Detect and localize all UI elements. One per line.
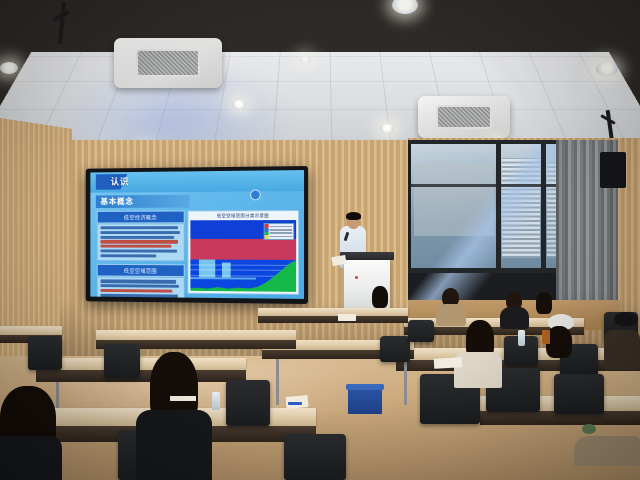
slide-block-body <box>97 223 185 262</box>
podium-equipment <box>340 252 394 260</box>
slide-section-title: 基本概念 <box>96 195 190 208</box>
remote-control <box>170 396 196 401</box>
slide-block-body <box>97 277 185 299</box>
chair[interactable] <box>284 434 346 480</box>
slide-block-heading: 低空空域范围 <box>97 264 185 277</box>
ceiling-downlight <box>392 0 418 14</box>
student-body-tan-jacket <box>436 304 466 326</box>
wall-speaker <box>600 152 626 188</box>
chart-legend <box>264 223 294 240</box>
student-head <box>536 292 552 314</box>
student-body <box>136 410 212 480</box>
ac-cassette-unit-left <box>114 38 222 88</box>
chair[interactable] <box>554 374 604 414</box>
projection-screen[interactable]: 认识 基本概念 低空经济概念 低空空域范围 <box>86 166 308 304</box>
ceiling-downlight <box>300 56 310 63</box>
desk-front-panel <box>36 370 246 382</box>
window-mullion <box>496 140 501 272</box>
desk-far-left <box>0 326 62 335</box>
chair[interactable] <box>226 380 270 426</box>
chart-title: 低空空域范围分类示意图 <box>190 213 296 219</box>
ceiling-mount-bracket-left <box>58 2 66 44</box>
papers-on-desk <box>338 314 356 321</box>
desk-leg <box>276 359 279 405</box>
slide-header-title: 认识 <box>111 175 130 188</box>
ac-grille <box>136 49 201 77</box>
student-black-cap <box>614 312 638 326</box>
slide-chart: 低空空域范围分类示意图 <box>188 210 300 295</box>
student-body <box>500 307 529 329</box>
chart-plot-area <box>190 220 296 292</box>
desk-row-2-left <box>36 358 246 370</box>
papers-on-desk <box>434 357 462 368</box>
ceiling-downlight <box>380 124 394 133</box>
pen-on-desk <box>288 402 302 405</box>
slide-block-heading: 低空经济概念 <box>97 211 185 224</box>
student-body <box>0 436 62 480</box>
legend-labels <box>269 224 294 239</box>
chair[interactable] <box>104 344 140 378</box>
chair[interactable] <box>408 320 434 342</box>
student-body <box>604 330 640 370</box>
ceiling-downlight <box>0 62 18 74</box>
chart-band-controlled-airspace <box>190 239 296 259</box>
chair[interactable] <box>28 336 62 370</box>
desk-front-panel <box>258 316 408 323</box>
chair[interactable] <box>380 336 410 362</box>
drink-cup <box>542 330 550 344</box>
ac-grille <box>436 105 491 129</box>
slide-decor-dot-icon <box>250 189 261 200</box>
water-bottle <box>212 392 220 410</box>
ceiling-downlight <box>232 100 246 109</box>
desk-row-3-far-left <box>96 330 296 340</box>
stool-seat <box>346 384 384 390</box>
blue-stool[interactable] <box>348 386 382 414</box>
slide-content: 认识 基本概念 低空经济概念 低空空域范围 <box>90 170 304 299</box>
water-bottle <box>518 330 525 346</box>
slide-left-column: 低空经济概念 低空空域范围 <box>97 211 185 299</box>
ceiling-downlight <box>596 62 618 76</box>
window-mullion <box>541 140 546 272</box>
presenter-hair <box>346 212 361 220</box>
lecture-hall-photo: 认识 基本概念 低空经济概念 低空空域范围 <box>0 0 640 480</box>
podium-indicator-light <box>355 276 358 279</box>
chart-corridor-strip <box>190 277 255 280</box>
chart-corridor-block <box>199 260 216 277</box>
student-arm-foreground <box>574 436 640 466</box>
desk-row-4-left <box>258 308 408 316</box>
ac-cassette-unit-right <box>418 96 510 138</box>
student-back-left <box>372 286 388 308</box>
cup-on-desk <box>582 424 596 434</box>
desk-leg <box>404 359 407 405</box>
